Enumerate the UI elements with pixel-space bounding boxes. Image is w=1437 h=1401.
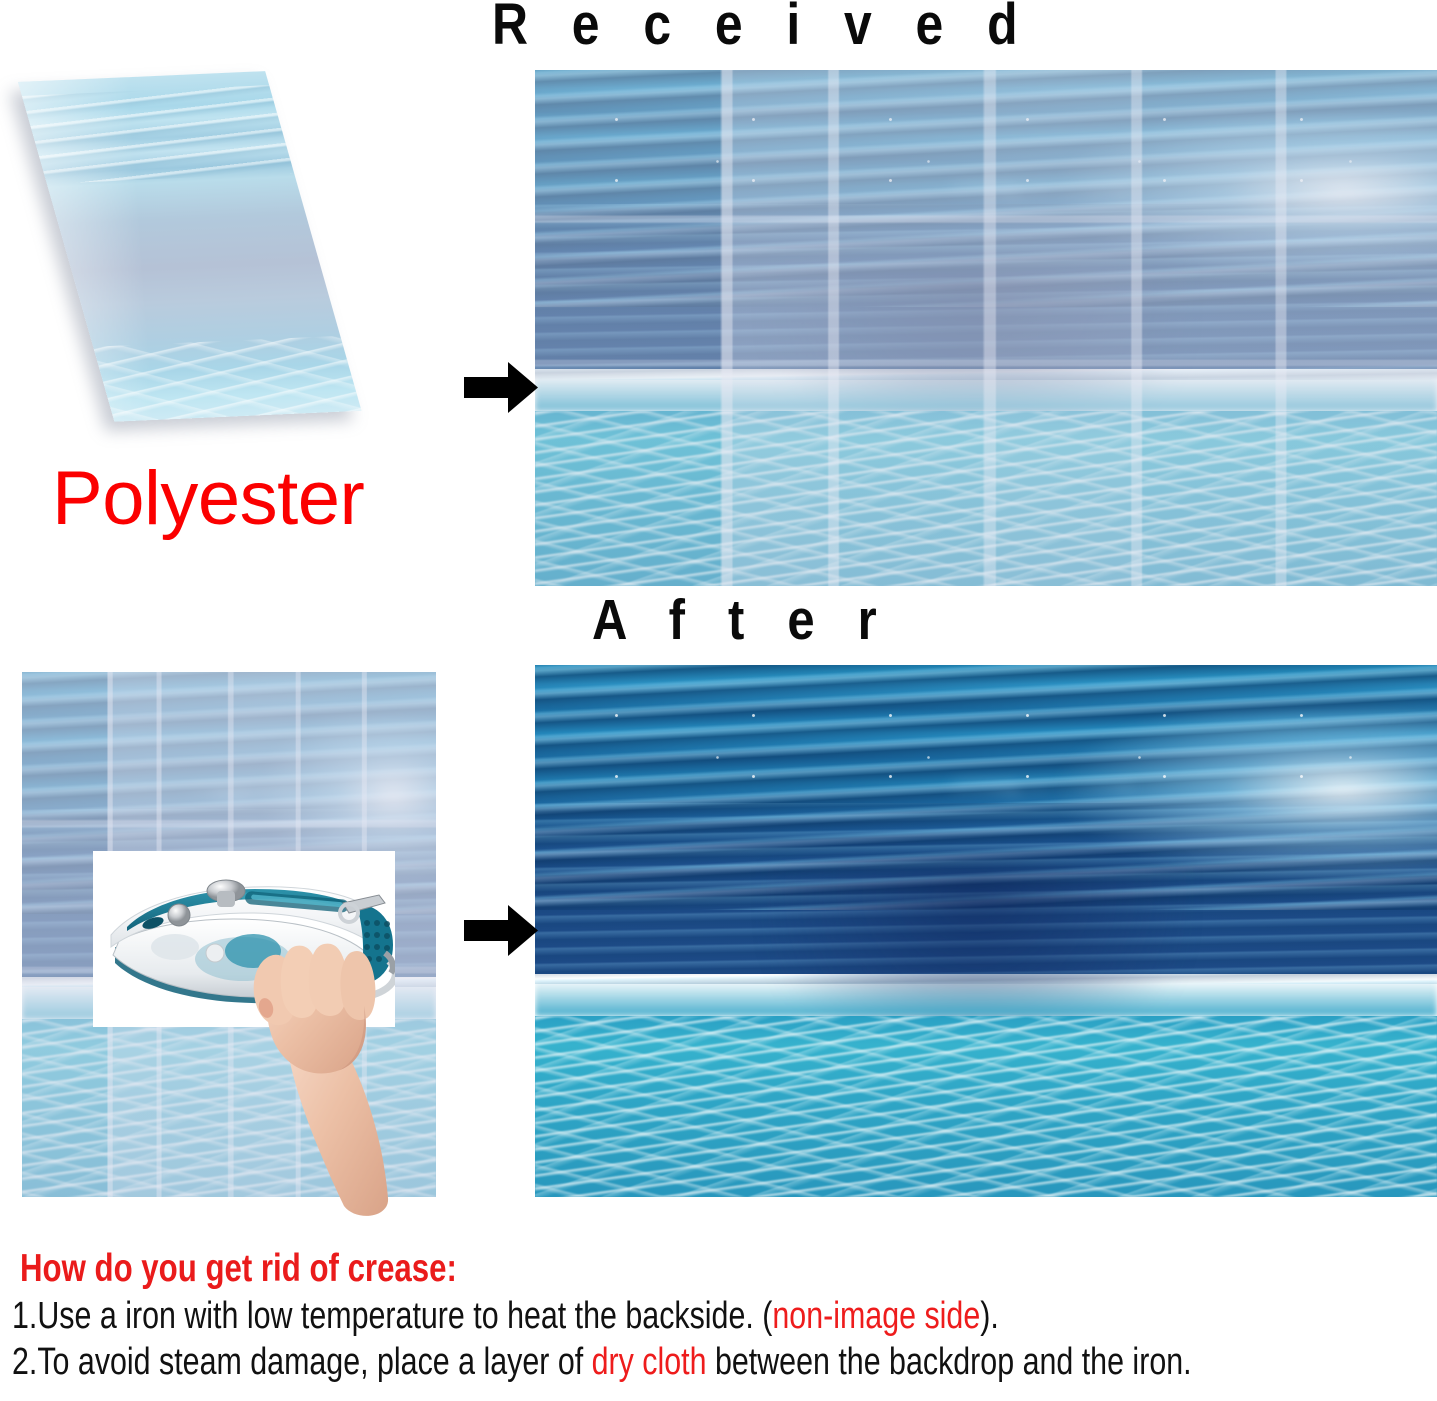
polyester-label: Polyester bbox=[52, 461, 364, 537]
care-instructions: How do you get rid of crease: 1.Use a ir… bbox=[8, 1249, 1437, 1386]
seafloor-caustics bbox=[535, 1016, 1437, 1197]
after-heading: A f t e r bbox=[592, 592, 891, 649]
instruction-line-2: 2.To avoid steam damage, place a layer o… bbox=[12, 1340, 1152, 1385]
seafloor-caustics bbox=[535, 411, 1437, 586]
instruction-2-part2: between the backdrop and the iron. bbox=[707, 1341, 1192, 1383]
seafloor-fade bbox=[535, 374, 1437, 410]
instruction-2-highlight: dry cloth bbox=[592, 1341, 707, 1383]
underwater-scene bbox=[535, 70, 1437, 586]
air-bubbles bbox=[535, 676, 1437, 836]
after-backdrop-photo bbox=[535, 665, 1437, 1197]
seafloor-fade bbox=[535, 979, 1437, 1016]
crease-heading: How do you get rid of crease: bbox=[20, 1249, 1154, 1290]
swatch-highlight bbox=[18, 71, 362, 422]
received-heading: R e c e i v e d bbox=[492, 0, 1033, 54]
right-arrow-icon bbox=[462, 903, 540, 963]
instruction-2-part1: 2.To avoid steam damage, place a layer o… bbox=[12, 1341, 592, 1383]
received-backdrop-photo bbox=[535, 70, 1437, 586]
instruction-1-highlight: non-image side bbox=[772, 1295, 980, 1337]
instruction-line-1: 1.Use a iron with low temperature to hea… bbox=[12, 1294, 1152, 1339]
polyester-fabric-swatch bbox=[18, 71, 362, 422]
right-arrow-icon bbox=[462, 360, 540, 420]
underwater-scene bbox=[535, 665, 1437, 1197]
hand-holding-iron bbox=[236, 930, 426, 1220]
instruction-1-part2: ). bbox=[980, 1295, 999, 1337]
air-bubbles bbox=[535, 80, 1437, 235]
instruction-1-part1: 1.Use a iron with low temperature to hea… bbox=[12, 1295, 772, 1337]
